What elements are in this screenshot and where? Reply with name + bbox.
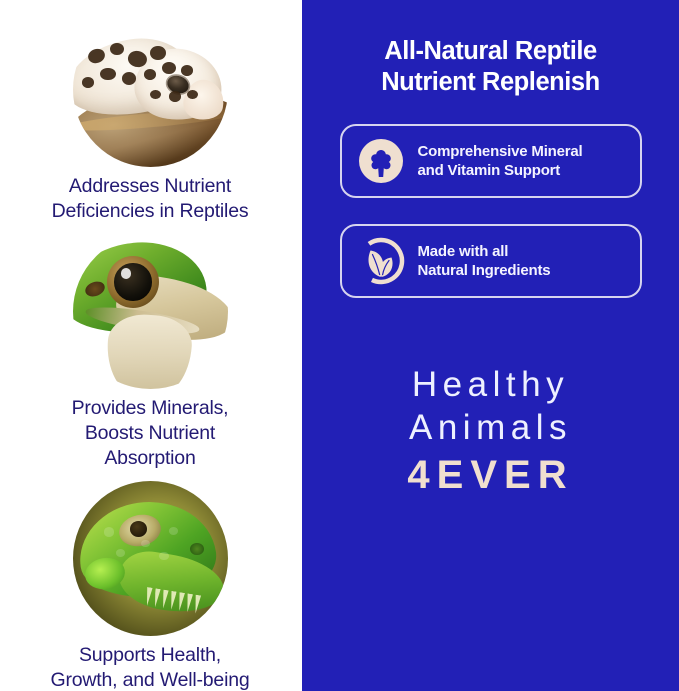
iguana-scale <box>116 549 125 557</box>
feature-caption-frog: Provides Minerals, Boosts Nutrient Absor… <box>5 396 295 471</box>
gecko-spot <box>150 90 161 99</box>
brand-logo-line-2: Animals <box>320 407 661 450</box>
iguana-pupil <box>130 521 147 537</box>
broccoli-nutrient-icon <box>356 136 406 186</box>
iguana-scale <box>104 527 115 536</box>
headline-line-2: Nutrient Replenish <box>381 68 600 96</box>
iguana-tooth <box>144 587 152 606</box>
badge-line-1: Comprehensive Mineral <box>418 143 583 160</box>
badge-line-2: and Vitamin Support <box>418 161 583 181</box>
product-infographic: Addresses Nutrient Deficiencies in Repti… <box>0 0 679 691</box>
iguana-tooth <box>168 591 176 610</box>
green-iguana-photo <box>73 481 228 636</box>
frog-eye-glint <box>121 268 132 279</box>
gecko-spot <box>169 91 181 102</box>
feature-caption-iguana: Supports Health, Growth, and Well-being <box>5 643 295 691</box>
feature-badge-natural: Made with all Natural Ingredients <box>340 224 642 298</box>
caption-line-1: Addresses Nutrient <box>69 175 231 197</box>
iguana-tooth <box>185 594 193 613</box>
badge-line-1: Made with all <box>418 243 509 260</box>
brand-logo-4ever: 4EVER <box>320 452 661 499</box>
brand-panel: All-Natural Reptile Nutrient Replenish C… <box>302 0 679 691</box>
gecko-spot <box>181 65 193 76</box>
frog-eye-pupil <box>114 263 151 300</box>
badge-label-minerals: Comprehensive Mineral and Vitamin Suppor… <box>418 142 583 181</box>
gecko-spot <box>150 46 166 60</box>
iguana-tooth <box>152 589 160 608</box>
feature-caption-gecko: Addresses Nutrient Deficiencies in Repti… <box>5 174 295 224</box>
feature-badge-minerals: Comprehensive Mineral and Vitamin Suppor… <box>340 124 642 198</box>
badge-label-natural: Made with all Natural Ingredients <box>418 242 551 281</box>
brand-logo-line-1: Healthy <box>320 364 661 407</box>
caption-line-3: Absorption <box>104 447 195 469</box>
gecko-spot <box>110 43 124 55</box>
iguana-tooth <box>176 592 184 611</box>
headline-line-1: All-Natural Reptile <box>384 37 596 65</box>
leopard-gecko-photo <box>73 12 228 167</box>
caption-line-2: Deficiencies in Reptiles <box>52 200 249 222</box>
feature-block-iguana: Supports Health, Growth, and Well-being <box>0 481 300 691</box>
green-frog-photo <box>73 234 228 389</box>
natural-leaves-icon <box>356 236 406 286</box>
page-title: All-Natural Reptile Nutrient Replenish <box>321 36 661 98</box>
gecko-spot <box>187 90 198 99</box>
iguana-scale <box>169 527 178 535</box>
iguana-tooth <box>193 595 201 614</box>
caption-line-2: Growth, and Well-being <box>50 669 249 691</box>
gecko-spot <box>82 77 94 88</box>
frog-throat <box>104 312 193 389</box>
iguana-scale <box>159 552 168 560</box>
brand-logo: Healthy Animals 4EVER <box>320 364 661 499</box>
iguana-tooth <box>160 590 168 609</box>
caption-line-1: Provides Minerals, <box>72 397 229 419</box>
caption-line-2: Boosts Nutrient <box>85 422 215 444</box>
badge-line-2: Natural Ingredients <box>418 261 551 281</box>
benefits-panel: Addresses Nutrient Deficiencies in Repti… <box>0 0 300 691</box>
gecko-spot <box>100 68 116 80</box>
gecko-spot <box>122 72 136 84</box>
feature-block-gecko: Addresses Nutrient Deficiencies in Repti… <box>0 12 300 224</box>
caption-line-1: Supports Health, <box>79 644 221 666</box>
feature-block-frog: Provides Minerals, Boosts Nutrient Absor… <box>0 234 300 471</box>
